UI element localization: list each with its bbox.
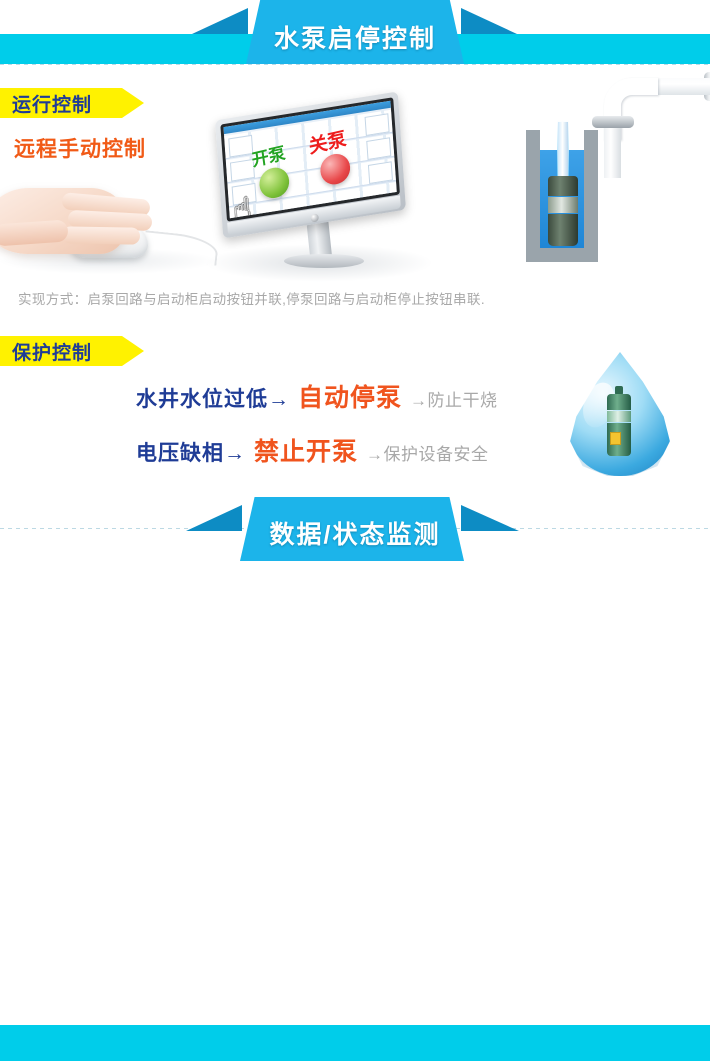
droplet-pump-middle-segment xyxy=(607,411,631,422)
riser-pipe xyxy=(558,122,568,180)
implementation-note: 实现方式：启泵回路与启动柜启动按钮并联,停泵回路与启动柜停止按钮串联. xyxy=(18,288,485,308)
rule-condition: 水井水位过低→ xyxy=(136,383,290,413)
tag-run-control-label: 运行控制 xyxy=(0,90,92,117)
pipe-flange-bottom xyxy=(592,116,634,128)
tag-run-control: 运行控制 xyxy=(0,88,144,118)
bottom-banner: 数据/状态监测 xyxy=(0,497,710,564)
tag-protection-control: 保护控制 xyxy=(0,336,144,366)
well-wall-right xyxy=(584,130,598,262)
rule-result: →防止干烧 xyxy=(410,386,498,411)
infographic-stage: 水泵启停控制 运行控制 远程手动控制 xyxy=(0,0,710,564)
droplet-pump-top-segment xyxy=(607,394,631,410)
top-banner: 水泵启停控制 xyxy=(0,0,710,70)
scada-cell xyxy=(368,161,393,184)
scada-cell xyxy=(365,113,390,136)
rule-action: 禁止开泵 xyxy=(254,432,358,468)
droplet-pump-label-tag xyxy=(610,432,621,445)
bottom-banner-bar xyxy=(0,1025,710,1061)
rule-result: →保护设备安全 xyxy=(366,440,489,465)
monitor-stand-base xyxy=(284,254,364,268)
hand-pointer-icon: ☝ xyxy=(232,194,252,219)
pump-top-segment xyxy=(548,176,578,196)
well-floor xyxy=(526,248,598,262)
desktop-monitor: 开泵 关泵 ☝ xyxy=(196,104,446,284)
monitor-body: 开泵 关泵 ☝ xyxy=(215,91,406,238)
hand-finger-ring xyxy=(62,226,140,244)
hand-on-mouse-photo xyxy=(0,172,215,280)
submersible-pump-in-well-illustration xyxy=(508,62,710,270)
protection-rule-row: 水井水位过低→ 自动停泵 →防止干烧 xyxy=(136,378,498,414)
pump-bottom-segment xyxy=(548,214,578,246)
rule-action: 自动停泵 xyxy=(298,378,402,414)
protection-rule-row: 电压缺相→ 禁止开泵 →保护设备安全 xyxy=(136,432,489,468)
water-droplet-with-pump-illustration xyxy=(550,348,690,488)
submersible-pump-icon xyxy=(548,176,578,246)
droplet-pump-icon xyxy=(607,386,631,456)
well-wall-left xyxy=(526,130,540,262)
remote-manual-subtitle: 远程手动控制 xyxy=(14,133,146,163)
top-banner-title: 水泵启停控制 xyxy=(0,19,710,55)
bottom-banner-title: 数据/状态监测 xyxy=(0,515,710,551)
pump-middle-segment xyxy=(548,197,578,213)
pipe-vertical xyxy=(604,122,621,178)
tag-protection-control-label: 保护控制 xyxy=(0,338,92,365)
scada-cell xyxy=(366,137,391,160)
rule-condition: 电压缺相→ xyxy=(136,437,246,467)
